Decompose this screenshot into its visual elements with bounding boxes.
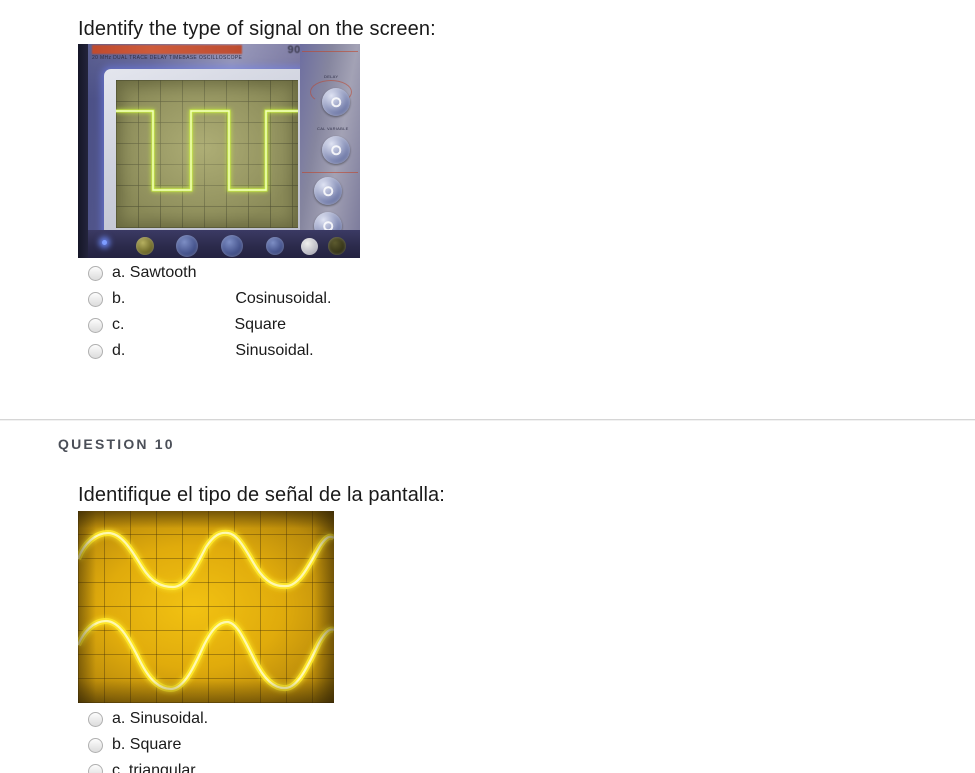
scope-brand-logo bbox=[92, 45, 242, 54]
question-divider bbox=[0, 419, 975, 421]
option-row-a[interactable]: a. Sinusoidal. bbox=[88, 706, 208, 732]
quiz-page: Identify the type of signal on the scree… bbox=[0, 0, 975, 773]
option-label-c: c. triangular bbox=[112, 761, 196, 773]
question-10-header: QUESTION 10 bbox=[58, 436, 175, 452]
option-text-c: triangular bbox=[129, 762, 196, 773]
square-wave-trace bbox=[116, 80, 298, 228]
option-row-b[interactable]: b. Square bbox=[88, 732, 208, 758]
radio-button-a[interactable] bbox=[88, 266, 103, 281]
question-9-prompt: Identify the type of signal on the scree… bbox=[78, 17, 436, 41]
option-row-c[interactable]: c.Square bbox=[88, 312, 331, 338]
delay-knob[interactable] bbox=[322, 88, 350, 116]
bottom-knob-3[interactable] bbox=[221, 235, 243, 257]
cal-variable-label: CAL VARIABLE bbox=[317, 126, 349, 131]
panel-divider-line bbox=[302, 51, 358, 52]
option-label-c: c.Square bbox=[112, 315, 286, 335]
radio-button-c[interactable] bbox=[88, 764, 103, 773]
option-label-a: a. Sinusoidal. bbox=[112, 709, 208, 729]
sine-screen-vignette bbox=[78, 511, 334, 703]
question-10-prompt: Identifique el tipo de señal de la panta… bbox=[78, 483, 445, 507]
bottom-knob-6[interactable] bbox=[328, 237, 346, 255]
bottom-knob-1[interactable] bbox=[136, 237, 154, 255]
scope-bottom-control-strip bbox=[88, 230, 360, 258]
question-9-options: a. Sawtooth b.Cosinusoidal. c.Square d.S… bbox=[88, 260, 331, 364]
option-row-b[interactable]: b.Cosinusoidal. bbox=[88, 286, 331, 312]
option-letter-a: a. bbox=[112, 263, 125, 283]
option-row-d[interactable]: d.Sinusoidal. bbox=[88, 338, 331, 364]
option-text-b: Square bbox=[130, 736, 182, 753]
option-letter-b: b. bbox=[112, 289, 125, 309]
radio-button-b[interactable] bbox=[88, 292, 103, 307]
option-row-c[interactable]: c. triangular bbox=[88, 758, 208, 773]
cal-variable-knob[interactable] bbox=[322, 136, 350, 164]
option-label-d: d.Sinusoidal. bbox=[112, 341, 314, 361]
scope-subtitle-label: 20 MHz DUAL TRACE DELAY TIMEBASE OSCILLO… bbox=[92, 55, 242, 61]
scope-left-shadow bbox=[78, 44, 88, 258]
option-label-b: b.Cosinusoidal. bbox=[112, 289, 331, 309]
radio-button-d[interactable] bbox=[88, 344, 103, 359]
option-letter-b: b. bbox=[112, 735, 125, 755]
option-text-a: Sawtooth bbox=[130, 264, 197, 281]
bottom-knob-2[interactable] bbox=[176, 235, 198, 257]
radio-button-a[interactable] bbox=[88, 712, 103, 727]
power-led bbox=[102, 240, 107, 245]
panel-divider-line-2 bbox=[302, 172, 358, 173]
delay-dial-label: DELAY bbox=[324, 74, 338, 79]
option-letter-d: d. bbox=[112, 341, 125, 361]
bottom-knob-5[interactable] bbox=[301, 238, 318, 255]
option-text-a: Sinusoidal. bbox=[130, 710, 208, 727]
option-text-b: Cosinusoidal. bbox=[235, 290, 331, 307]
scope-right-control-panel: DELAY CAL VARIABLE bbox=[300, 44, 360, 230]
scope-crt-screen bbox=[116, 80, 298, 228]
question-10-options: a. Sinusoidal. b. Square c. triangular bbox=[88, 706, 208, 773]
radio-button-c[interactable] bbox=[88, 318, 103, 333]
option-text-c: Square bbox=[234, 316, 286, 333]
oscilloscope-sine-wave-photo bbox=[78, 511, 334, 703]
scope-screen-bezel bbox=[104, 69, 309, 241]
option-text-d: Sinusoidal. bbox=[235, 342, 313, 359]
bottom-knob-4[interactable] bbox=[266, 237, 284, 255]
option-row-a[interactable]: a. Sawtooth bbox=[88, 260, 331, 286]
volts-div-knob[interactable] bbox=[314, 177, 342, 205]
option-letter-c: c. bbox=[112, 315, 124, 335]
option-label-a: a. Sawtooth bbox=[112, 263, 197, 283]
oscilloscope-square-wave-photo: 9020 20 MHz DUAL TRACE DELAY TIMEBASE OS… bbox=[78, 44, 360, 258]
option-letter-c: c. bbox=[112, 761, 124, 773]
option-letter-a: a. bbox=[112, 709, 125, 729]
radio-button-b[interactable] bbox=[88, 738, 103, 753]
option-label-b: b. Square bbox=[112, 735, 181, 755]
